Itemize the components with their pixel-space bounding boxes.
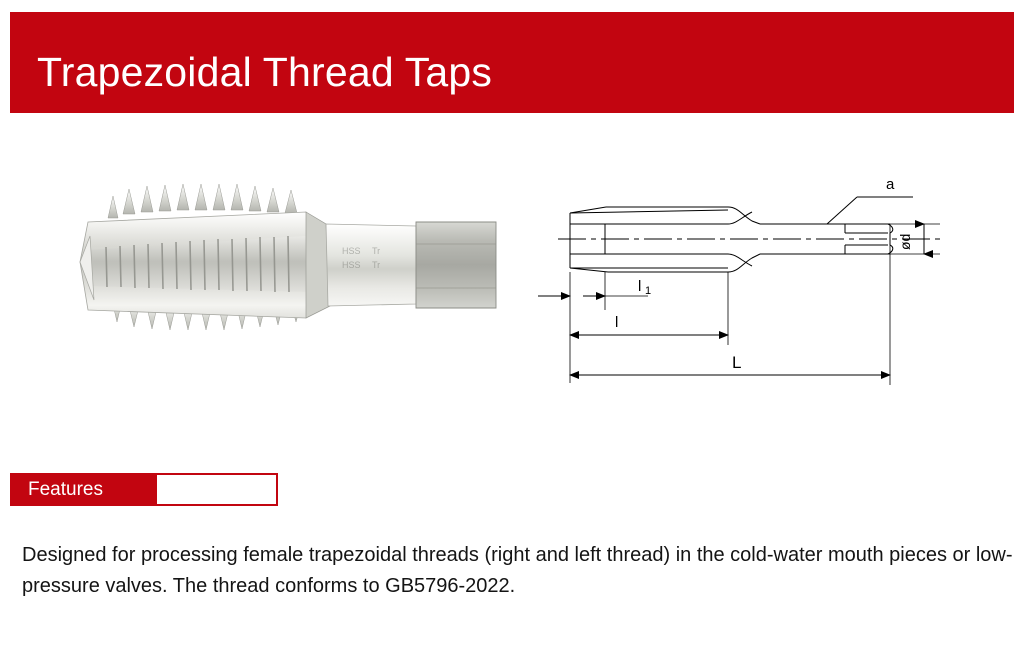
features-description-text: Designed for processing female trapezoid… — [22, 540, 1029, 602]
technical-drawing-container: a l 1 l L ød — [520, 155, 1020, 405]
page-header-banner: Trapezoidal Thread Taps — [10, 12, 1014, 113]
label-shank-diameter-od: ød — [897, 234, 913, 250]
svg-text:HSS: HSS — [342, 246, 361, 256]
label-overall-length-L: L — [732, 353, 741, 372]
features-badge-fill: Features — [10, 473, 155, 506]
svg-text:Tr: Tr — [372, 246, 380, 256]
svg-text:HSS: HSS — [342, 260, 361, 270]
features-label: Features — [10, 479, 103, 501]
features-badge-outline-box — [155, 473, 278, 506]
page-title: Trapezoidal Thread Taps — [37, 46, 492, 98]
label-thread-length-l: l — [615, 314, 618, 331]
label-thread-length-l1-subscript: 1 — [645, 285, 651, 297]
product-photo-container: HSS Tr HSS Tr — [20, 150, 500, 390]
features-badge: Features — [10, 473, 278, 506]
label-chamfer-angle-a: a — [886, 176, 895, 193]
trapezoidal-thread-tap-photo: HSS Tr HSS Tr — [20, 150, 500, 390]
label-thread-length-l1: l — [638, 278, 641, 295]
svg-text:Tr: Tr — [372, 260, 380, 270]
tap-dimension-drawing: a l 1 l L ød — [520, 155, 1020, 405]
